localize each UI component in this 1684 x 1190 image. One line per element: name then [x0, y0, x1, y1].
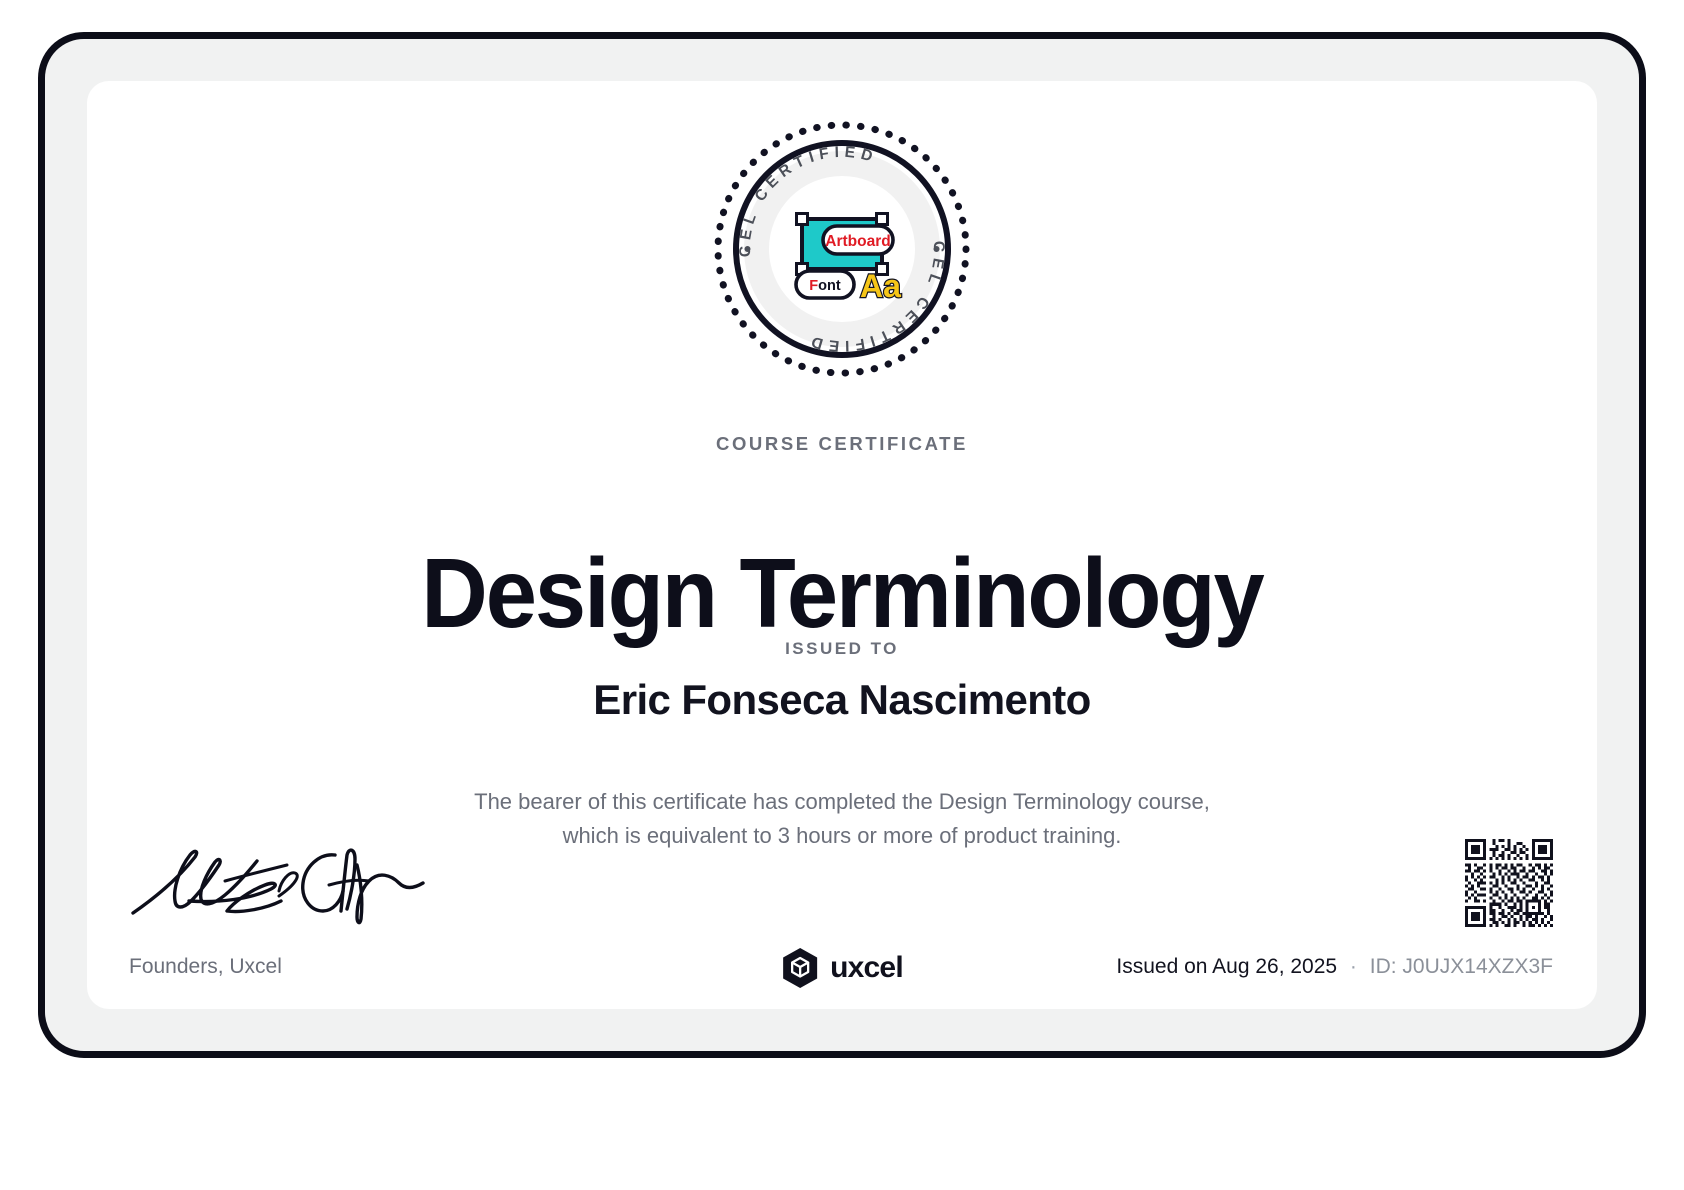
- type-sample-icon: Aa: [860, 268, 901, 304]
- uxcel-mark-icon: [781, 947, 819, 989]
- badge-bullet-right: [934, 246, 940, 252]
- eyebrow-label: COURSE CERTIFICATE: [87, 433, 1597, 455]
- qr-code[interactable]: [1465, 839, 1553, 927]
- issued-on-date: Issued on Aug 26, 2025: [1116, 955, 1337, 978]
- certificate-id: ID: J0UJX14XZX3F: [1370, 955, 1553, 978]
- font-icon: Font: [796, 271, 854, 298]
- course-title: Design Terminology: [132, 537, 1551, 649]
- svg-text:Font: Font: [809, 278, 841, 294]
- issue-metadata: Issued on Aug 26, 2025 · ID: J0UJX14XZX3…: [1116, 955, 1553, 979]
- certificate-frame: UXCEL CERTIFIED UXCEL CERTIFIED Artboard: [38, 32, 1646, 1058]
- certificate-card: UXCEL CERTIFIED UXCEL CERTIFIED Artboard: [87, 81, 1597, 1009]
- badge-bullet-left: [745, 246, 751, 252]
- uxcel-wordmark: uxcel: [830, 951, 903, 985]
- founder-signatures: [129, 841, 429, 927]
- description-line-1: The bearer of this certificate has compl…: [87, 785, 1597, 819]
- issued-to-label: ISSUED TO: [87, 639, 1597, 659]
- uxcel-certified-badge: UXCEL CERTIFIED UXCEL CERTIFIED Artboard: [711, 118, 973, 380]
- svg-text:Artboard: Artboard: [825, 233, 890, 250]
- svg-text:Aa: Aa: [860, 268, 901, 304]
- founders-label: Founders, Uxcel: [129, 955, 282, 979]
- artboard-icon: Artboard: [797, 214, 894, 275]
- uxcel-logo: uxcel: [781, 947, 903, 989]
- recipient-name: Eric Fonseca Nascimento: [87, 676, 1597, 724]
- meta-separator: ·: [1343, 955, 1364, 978]
